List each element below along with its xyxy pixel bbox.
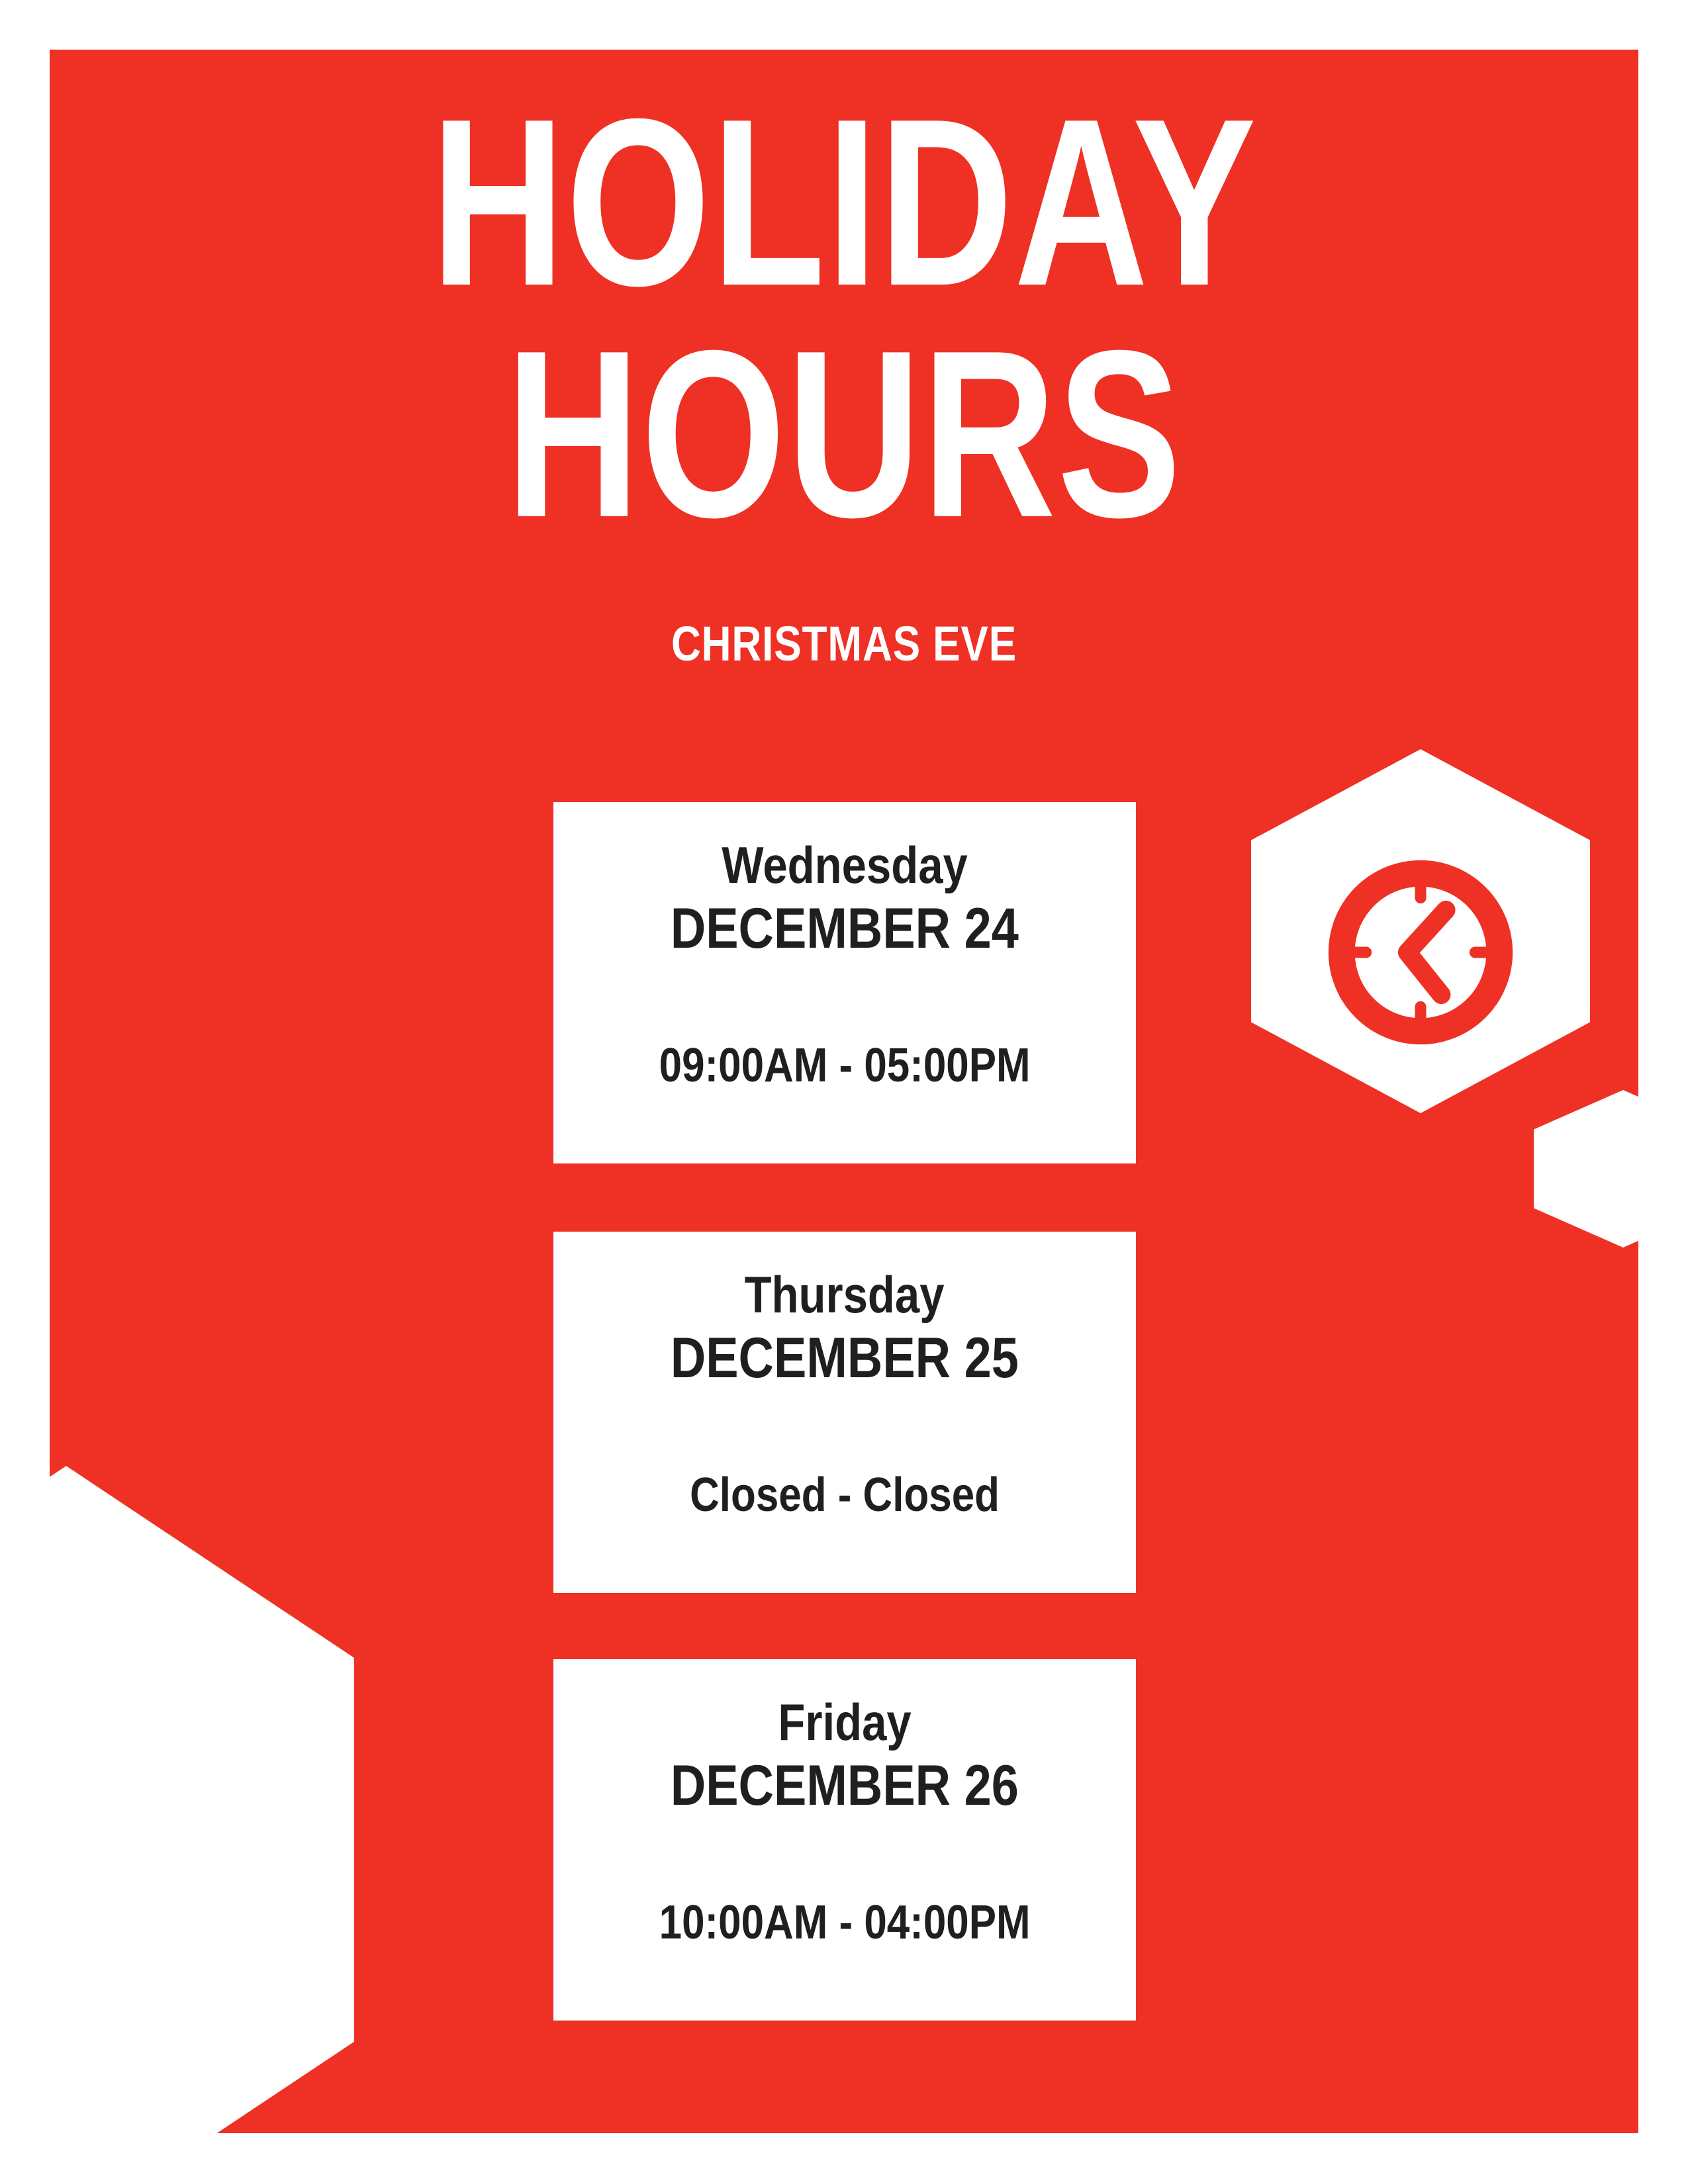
poster-subtitle: CHRISTMAS EVE	[177, 615, 1511, 672]
hexagon-decoration-corner	[50, 1466, 354, 2133]
hours-card-day: Wednesday	[722, 837, 968, 893]
hours-card-day: Thursday	[745, 1266, 945, 1323]
hours-card: Wednesday DECEMBER 24 09:00AM - 05:00PM	[553, 802, 1136, 1163]
page-title-line-1: HOLIDAY	[224, 86, 1464, 319]
hours-card-date: DECEMBER 25	[671, 1326, 1019, 1390]
hours-card: Thursday DECEMBER 25 Closed - Closed	[553, 1232, 1136, 1593]
hours-card-time: Closed - Closed	[690, 1469, 1000, 1522]
page-title-line-2: HOURS	[224, 318, 1464, 551]
hours-card-time: 10:00AM - 04:00PM	[659, 1896, 1031, 1949]
poster-panel: HOLIDAY HOURS CHRISTMAS EVE Wednesday DE…	[50, 50, 1638, 2133]
hours-card-date: DECEMBER 26	[671, 1753, 1019, 1818]
hours-card-date: DECEMBER 24	[671, 896, 1019, 961]
hours-card: Friday DECEMBER 26 10:00AM - 04:00PM	[553, 1659, 1136, 2021]
hexagon-decoration-small	[1534, 1090, 1638, 1248]
hours-card-day: Friday	[778, 1694, 911, 1751]
clock-icon	[1327, 858, 1515, 1046]
hours-card-time: 09:00AM - 05:00PM	[659, 1039, 1031, 1092]
